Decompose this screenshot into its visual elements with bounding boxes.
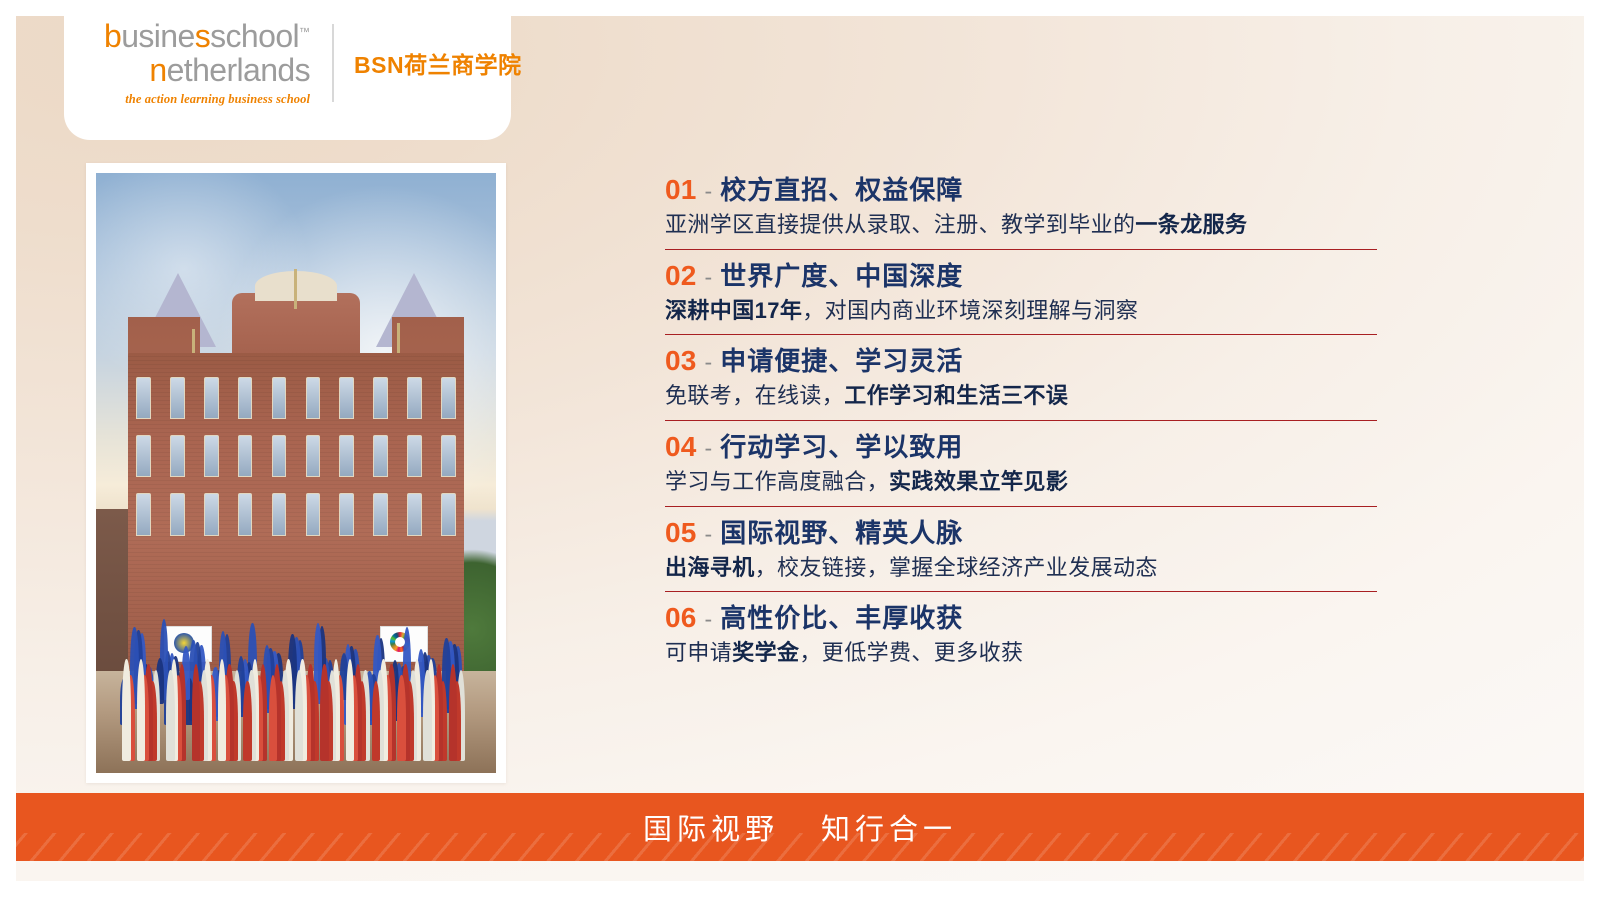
feature-item-title: 国际视野、精英人脉 (720, 513, 963, 550)
feature-item-desc: 亚洲学区直接提供从录取、注册、教学到毕业的一条龙服务 (665, 210, 1377, 240)
feature-item-number: 02 (665, 260, 697, 292)
campus-photo (96, 173, 496, 773)
campus-photo-frame (86, 163, 506, 783)
feature-item-number: 05 (665, 517, 697, 549)
feature-item-desc-part: 深耕中国17年 (665, 298, 802, 323)
graduate-figure (137, 659, 145, 761)
feature-item-title: 申请便捷、学习灵活 (720, 341, 963, 378)
feature-item-title: 高性价比、丰厚收获 (720, 598, 963, 635)
feature-item-desc-part: 学习与工作高度融合， (665, 469, 889, 494)
logo-divider (332, 24, 334, 102)
feature-item: 05-国际视野、精英人脉出海寻机，校友链接，掌握全球经济产业发展动态 (665, 507, 1377, 593)
feature-item-title: 行动学习、学以致用 (720, 427, 963, 464)
graduate-figure (320, 664, 328, 761)
feature-item-desc: 学习与工作高度融合，实践效果立竿见影 (665, 467, 1377, 497)
graduate-figure (423, 670, 431, 761)
window-row (136, 435, 456, 477)
feature-item-desc-part: 奖学金 (732, 640, 799, 665)
feature-item-head: 03-申请便捷、学习灵活 (665, 341, 1377, 378)
logo-tagline: the action learning business school (125, 93, 310, 106)
graduate-figure (449, 664, 457, 761)
window-grid (136, 377, 456, 641)
feature-item-desc-part: 实践效果立竿见影 (889, 469, 1068, 494)
feature-item-desc-part: 亚洲学区直接提供从录取、注册、教学到毕业的 (665, 212, 1135, 237)
footer-slogan: 国际视野 知行合一 (16, 793, 1584, 861)
logo-lockup: businesschool™ netherlands the action le… (104, 20, 522, 106)
graduate-figure (166, 670, 174, 761)
feature-item-desc: 可申请奖学金，更低学费、更多收获 (665, 638, 1377, 668)
feature-item-head: 02-世界广度、中国深度 (665, 256, 1377, 293)
logo-line-businessschool: businesschool™ (104, 20, 310, 53)
feature-item-desc-part: 可申请 (665, 640, 732, 665)
window-row (136, 493, 456, 535)
slide-root: businesschool™ netherlands the action le… (0, 0, 1600, 900)
logo-line-netherlands: netherlands (149, 54, 310, 88)
logo-wordmark: businesschool™ netherlands the action le… (104, 20, 332, 106)
footer-slogan-right: 知行合一 (821, 806, 957, 848)
feature-item-desc-part: ，校友链接，掌握全球经济产业发展动态 (755, 555, 1158, 580)
feature-item: 02-世界广度、中国深度深耕中国17年，对国内商业环境深刻理解与洞察 (665, 250, 1377, 336)
slide-canvas: businesschool™ netherlands the action le… (16, 16, 1584, 881)
feature-item-head: 04-行动学习、学以致用 (665, 427, 1377, 464)
feature-item-dash: - (697, 521, 721, 548)
feature-item-title: 世界广度、中国深度 (720, 256, 963, 293)
feature-item-desc-part: ，对国内商业环境深刻理解与洞察 (802, 298, 1138, 323)
graduate-figure (397, 675, 405, 761)
graduate-figure (218, 659, 226, 761)
feature-item-desc-part: ，更低学费、更多收获 (799, 640, 1023, 665)
feature-item-head: 01-校方直招、权益保障 (665, 170, 1377, 207)
graduates-crowd (120, 623, 472, 761)
feature-item: 04-行动学习、学以致用学习与工作高度融合，实践效果立竿见影 (665, 421, 1377, 507)
feature-item-number: 03 (665, 345, 697, 377)
spire-center-icon (294, 269, 297, 309)
feature-item-dash: - (697, 606, 721, 633)
feature-item-desc-part: 工作学习和生活三不误 (844, 383, 1068, 408)
feature-item: 03-申请便捷、学习灵活免联考，在线读，工作学习和生活三不误 (665, 335, 1377, 421)
feature-list: 01-校方直招、权益保障亚洲学区直接提供从录取、注册、教学到毕业的一条龙服务02… (665, 164, 1377, 677)
feature-item-desc-part: 出海寻机 (665, 555, 755, 580)
feature-item-head: 06-高性价比、丰厚收获 (665, 598, 1377, 635)
feature-item-desc: 深耕中国17年，对国内商业环境深刻理解与洞察 (665, 296, 1377, 326)
brand-logo-card: businesschool™ netherlands the action le… (64, 16, 511, 140)
feature-item-number: 06 (665, 602, 697, 634)
logo-chinese-name: BSN荷兰商学院 (354, 46, 522, 80)
feature-item-number: 04 (665, 431, 697, 463)
feature-item-desc: 免联考，在线读，工作学习和生活三不误 (665, 381, 1377, 411)
footer-slogan-left: 国际视野 (643, 806, 779, 848)
feature-item: 01-校方直招、权益保障亚洲学区直接提供从录取、注册、教学到毕业的一条龙服务 (665, 164, 1377, 250)
graduate-figure (122, 659, 130, 761)
feature-item-title: 校方直招、权益保障 (720, 170, 963, 207)
feature-item-desc: 出海寻机，校友链接，掌握全球经济产业发展动态 (665, 553, 1377, 583)
graduate-figure (295, 670, 303, 761)
window-row (136, 377, 456, 419)
feature-item-number: 01 (665, 174, 697, 206)
feature-item: 06-高性价比、丰厚收获可申请奖学金，更低学费、更多收获 (665, 592, 1377, 677)
feature-item-desc-part: 一条龙服务 (1135, 212, 1247, 237)
graduate-figure (192, 664, 200, 761)
feature-item-desc-part: 免联考，在线读， (665, 383, 844, 408)
graduate-figure (372, 681, 380, 761)
feature-item-dash: - (697, 349, 721, 376)
graduate-figure (243, 681, 251, 761)
footer-banner: 国际视野 知行合一 (16, 793, 1584, 861)
feature-item-dash: - (697, 178, 721, 205)
trademark-icon: ™ (299, 26, 310, 38)
feature-item-dash: - (697, 264, 721, 291)
feature-item-head: 05-国际视野、精英人脉 (665, 513, 1377, 550)
feature-item-dash: - (697, 435, 721, 462)
